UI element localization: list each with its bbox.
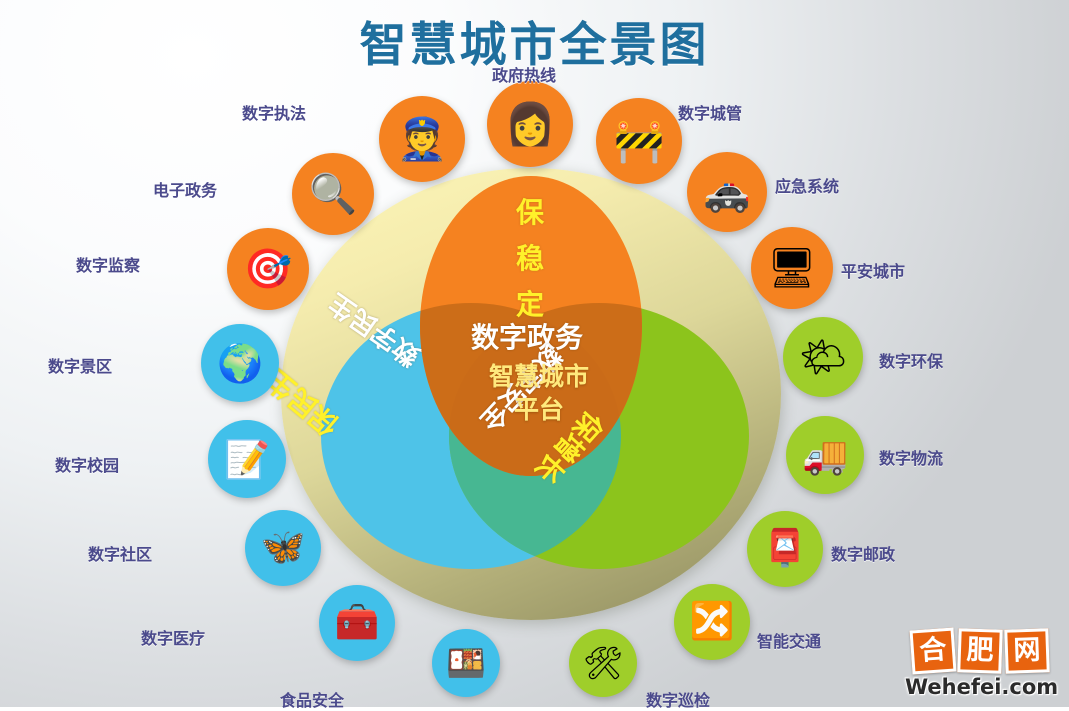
satellite-node-13[interactable]: 📝 [208, 420, 286, 498]
mailbox-icon: 📮 [763, 531, 808, 567]
satellite-label-15: 数字监察 [76, 252, 140, 276]
satellite-node-9[interactable]: 🛠 [569, 629, 637, 697]
satellite-node-8[interactable]: 🔀 [674, 584, 750, 660]
lobe-label-stability-c2: 稳 [510, 236, 550, 282]
site-watermark: 合 肥 网 Wehefei.com [905, 629, 1055, 699]
lobe-label-stability: 保 稳 定 [510, 190, 550, 328]
watermark-domain: Wehefei.com [905, 675, 1055, 699]
core-platform-label: 智慧城市 平台 [459, 360, 619, 426]
community-butterfly-icon: 🦋 [261, 530, 306, 566]
direction-arrows-icon: 🔀 [690, 604, 735, 640]
satellite-node-11[interactable]: 🧰 [319, 585, 395, 661]
satellite-node-6[interactable]: 🚚 [786, 416, 864, 494]
magnifier-documents-icon: 🔍 [309, 175, 358, 214]
smart-city-panorama: 智慧城市全景图 保 稳 定 保民生 [0, 0, 1069, 707]
satellite-label-6: 数字物流 [879, 445, 943, 469]
intersection-label-digital-government: 数字政务 [471, 316, 583, 356]
first-aid-kit-icon: 🧰 [335, 605, 380, 641]
satellite-node-7[interactable]: 📮 [747, 511, 823, 587]
weather-station-icon: 🌤 [799, 338, 847, 376]
satellite-node-12[interactable]: 🦋 [245, 510, 321, 586]
core-platform-line1: 智慧城市 [459, 360, 619, 393]
globe-islands-icon: 🌍 [217, 345, 263, 382]
target-darts-icon: 🎯 [244, 250, 293, 289]
surveillance-screens-icon: 🖥 [767, 249, 817, 288]
satellite-label-3: 应急系统 [775, 173, 839, 197]
satellite-node-10[interactable]: 🍱 [432, 629, 500, 697]
satellite-label-0: 数字执法 [242, 100, 306, 124]
truck-icon: 🚚 [802, 437, 848, 474]
satellite-label-8: 智能交通 [757, 628, 821, 652]
inspection-question-icon: 🛠 [583, 647, 624, 679]
operator-portrait-icon: 👩 [504, 104, 555, 145]
satellite-label-1: 政府热线 [492, 62, 556, 86]
core-platform-line2: 平台 [459, 393, 619, 426]
watermark-tiles: 合 肥 网 [905, 629, 1055, 673]
notepad-pencil-icon: 📝 [224, 441, 270, 478]
satellite-node-16[interactable]: 🔍 [292, 153, 374, 235]
satellite-label-10: 食品安全 [280, 687, 344, 711]
watermark-tile-1: 合 [910, 628, 957, 675]
satellite-label-14: 数字景区 [48, 353, 112, 377]
food-safety-grid-icon: 🍱 [446, 647, 486, 679]
satellite-node-5[interactable]: 🌤 [783, 317, 863, 397]
satellite-node-4[interactable]: 🖥 [751, 227, 833, 309]
venn-diagram: 保 稳 定 保民生 保增长 数字政务 数字民生 数字安全 智慧城市 平台 [281, 168, 781, 620]
police-officer-avatar-icon: 👮 [396, 119, 447, 160]
satellite-label-5: 数字环保 [879, 348, 943, 372]
satellite-label-9: 数字巡检 [646, 687, 710, 711]
watermark-tile-3: 网 [1004, 628, 1050, 674]
satellite-node-14[interactable]: 🌍 [201, 324, 279, 402]
satellite-label-12: 数字社区 [88, 541, 152, 565]
satellite-node-2[interactable]: 🚧 [596, 98, 682, 184]
satellite-node-3[interactable]: 🚓 [687, 152, 767, 232]
lobe-label-stability-c1: 保 [510, 190, 550, 236]
satellite-label-4: 平安城市 [841, 258, 905, 282]
satellite-node-0[interactable]: 👮 [379, 96, 465, 182]
satellite-label-7: 数字邮政 [831, 541, 895, 565]
satellite-label-13: 数字校园 [55, 452, 119, 476]
police-car-icon: 🚓 [703, 173, 750, 211]
satellite-node-15[interactable]: 🎯 [227, 228, 309, 310]
watermark-tile-2: 肥 [957, 628, 1003, 674]
satellite-label-2: 数字城管 [678, 100, 742, 124]
satellite-label-11: 数字医疗 [141, 625, 205, 649]
satellite-label-16: 电子政务 [153, 177, 217, 201]
satellite-node-1[interactable]: 👩 [487, 81, 573, 167]
traffic-cone-icon: 🚧 [613, 121, 664, 162]
